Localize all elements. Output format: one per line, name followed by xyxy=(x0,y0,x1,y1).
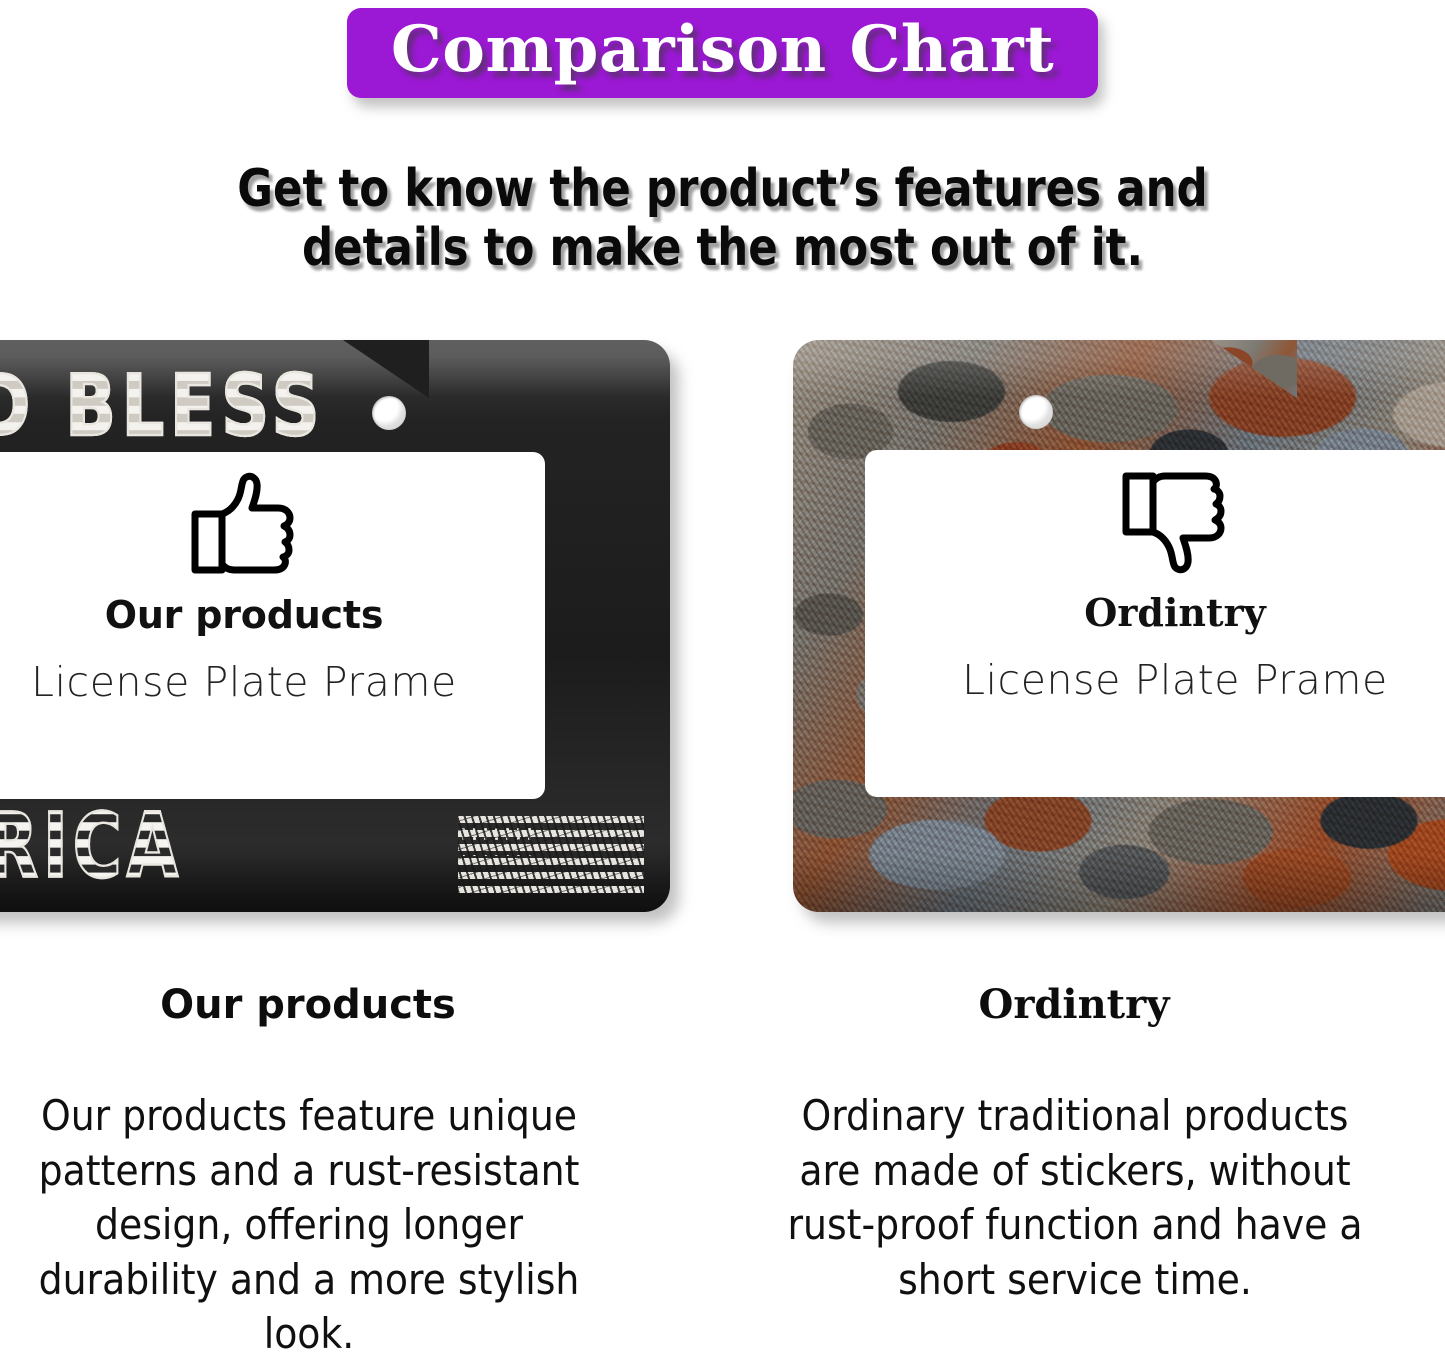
us-flag-icon xyxy=(458,816,644,894)
details-column-ours: Our products Our products feature unique… xyxy=(0,985,722,1315)
product-image-ordinary: Ordintry License Plate Prame xyxy=(793,340,1445,912)
plate-sublabel-left: License Plate Prame xyxy=(31,662,457,703)
frame-bottom-text: MERICA xyxy=(0,795,183,898)
plate-label-right: Ordintry xyxy=(1084,594,1265,632)
plate-sublabel-right: License Plate Prame xyxy=(962,660,1388,701)
thumbs-up-icon xyxy=(182,472,306,576)
plate-label-left: Our products xyxy=(105,596,384,634)
comparison-details: Our products Our products feature unique… xyxy=(0,985,1445,1315)
window-chamfer-left xyxy=(343,340,429,398)
details-body-ordinary: Ordinary traditional products are made o… xyxy=(775,1089,1375,1307)
comparison-images: OD BLESS MERICA Our xyxy=(0,340,1445,930)
details-column-ordinary: Ordintry Ordinary traditional products a… xyxy=(722,985,1444,1315)
subtitle: Get to know the product’s features and d… xyxy=(51,160,1395,279)
frame-top-text: OD BLESS xyxy=(0,356,325,455)
flag-canton xyxy=(458,816,532,856)
details-heading-ordinary: Ordintry xyxy=(713,985,1435,1025)
mounting-hole xyxy=(1019,395,1053,429)
subtitle-line-1: Get to know the product’s features and xyxy=(51,160,1395,219)
mounting-hole xyxy=(372,396,406,430)
details-heading-ours: Our products xyxy=(0,985,669,1025)
plate-window-content-left: Our products License Plate Prame xyxy=(0,452,545,799)
details-body-ours: Our products feature unique patterns and… xyxy=(19,1089,599,1362)
plate-window-content-right: Ordintry License Plate Prame xyxy=(865,450,1445,797)
license-plate-frame-rusted: Ordintry License Plate Prame xyxy=(793,340,1445,912)
title-banner-wrapper: Comparison Chart xyxy=(0,8,1445,98)
thumbs-down-icon xyxy=(1113,470,1237,574)
product-image-ours: OD BLESS MERICA Our xyxy=(0,340,670,912)
page-title: Comparison Chart xyxy=(391,14,1054,86)
license-plate-frame-black: OD BLESS MERICA Our xyxy=(0,340,670,912)
subtitle-line-2: details to make the most out of it. xyxy=(51,219,1395,278)
plate-window-left: Our products License Plate Prame xyxy=(0,452,545,799)
title-banner: Comparison Chart xyxy=(347,8,1098,98)
plate-window-right: Ordintry License Plate Prame xyxy=(865,450,1445,797)
window-chamfer-right xyxy=(1211,340,1297,398)
